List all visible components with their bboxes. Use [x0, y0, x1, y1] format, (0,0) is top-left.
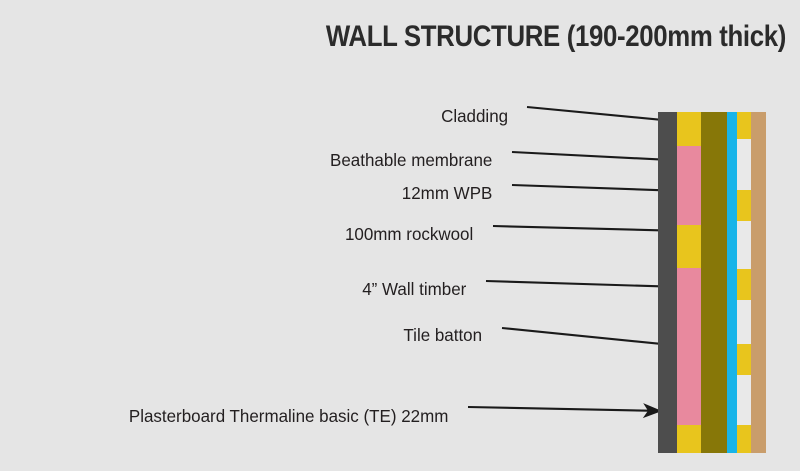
label-batton: Tile batton: [403, 325, 482, 346]
batton-block-3: [737, 269, 751, 300]
batton-block-4: [737, 344, 751, 375]
wpb-layer: [701, 112, 727, 453]
label-membrane: Beathable membrane: [330, 150, 492, 171]
batton-block-5: [737, 425, 751, 453]
rockwool-layer: [677, 112, 701, 453]
leader-plasterboard: [468, 403, 662, 418]
timber-block-3: [677, 425, 701, 453]
label-wpb: 12mm WPB: [401, 183, 492, 204]
batton-block-2: [737, 190, 751, 221]
plasterboard-layer: [658, 112, 677, 453]
label-timber: 4” Wall timber: [362, 279, 466, 300]
label-rockwool: 100mm rockwool: [345, 224, 473, 245]
label-plasterboard: Plasterboard Thermaline basic (TE) 22mm: [128, 406, 448, 427]
label-cladding: Cladding: [441, 106, 508, 127]
batton-block-1: [737, 112, 751, 139]
leader-timber: [486, 279, 681, 294]
timber-block-1: [677, 112, 701, 146]
wall-cross-section: [658, 112, 766, 453]
diagram-canvas: WALL STRUCTURE (190-200mm thick) Claddin…: [0, 0, 800, 471]
timber-block-2: [677, 225, 701, 268]
cladding-layer: [751, 112, 766, 453]
membrane-layer: [727, 112, 737, 453]
